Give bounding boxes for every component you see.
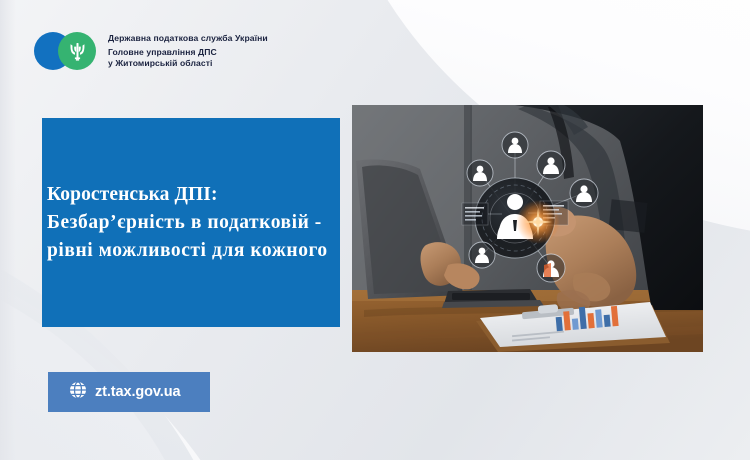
- poster-canvas: Державна податкова служба України Головн…: [0, 0, 750, 460]
- title-panel: Коростенська ДПІ: Безбар’єрність в подат…: [42, 118, 340, 327]
- background-edge-shade-left: [0, 0, 16, 460]
- logo-green-circle: [58, 32, 96, 70]
- title-line-2: Безбар’єрність в податковій -: [47, 209, 340, 237]
- globe-icon: [69, 381, 87, 404]
- ukraine-trident-icon: [69, 41, 86, 62]
- brand-text-block: Державна податкова служба України Головн…: [108, 33, 268, 70]
- brand-line-agency: Державна податкова служба України: [108, 33, 268, 44]
- title-line-1: Коростенська ДПІ:: [47, 181, 340, 209]
- brand-logo: [34, 32, 96, 70]
- title-text-block: Коростенська ДПІ: Безбар’єрність в подат…: [42, 181, 340, 265]
- brand-line-region: у Житомирській області: [108, 58, 268, 69]
- brand-line-department: Головне управління ДПС: [108, 47, 268, 58]
- brand-header: Державна податкова служба України Головн…: [34, 32, 268, 70]
- website-url-label: zt.tax.gov.ua: [95, 384, 180, 400]
- title-line-3: рівні можливості для кожного: [47, 237, 340, 265]
- website-url-chip[interactable]: zt.tax.gov.ua: [48, 372, 210, 412]
- feature-photo: [352, 105, 703, 352]
